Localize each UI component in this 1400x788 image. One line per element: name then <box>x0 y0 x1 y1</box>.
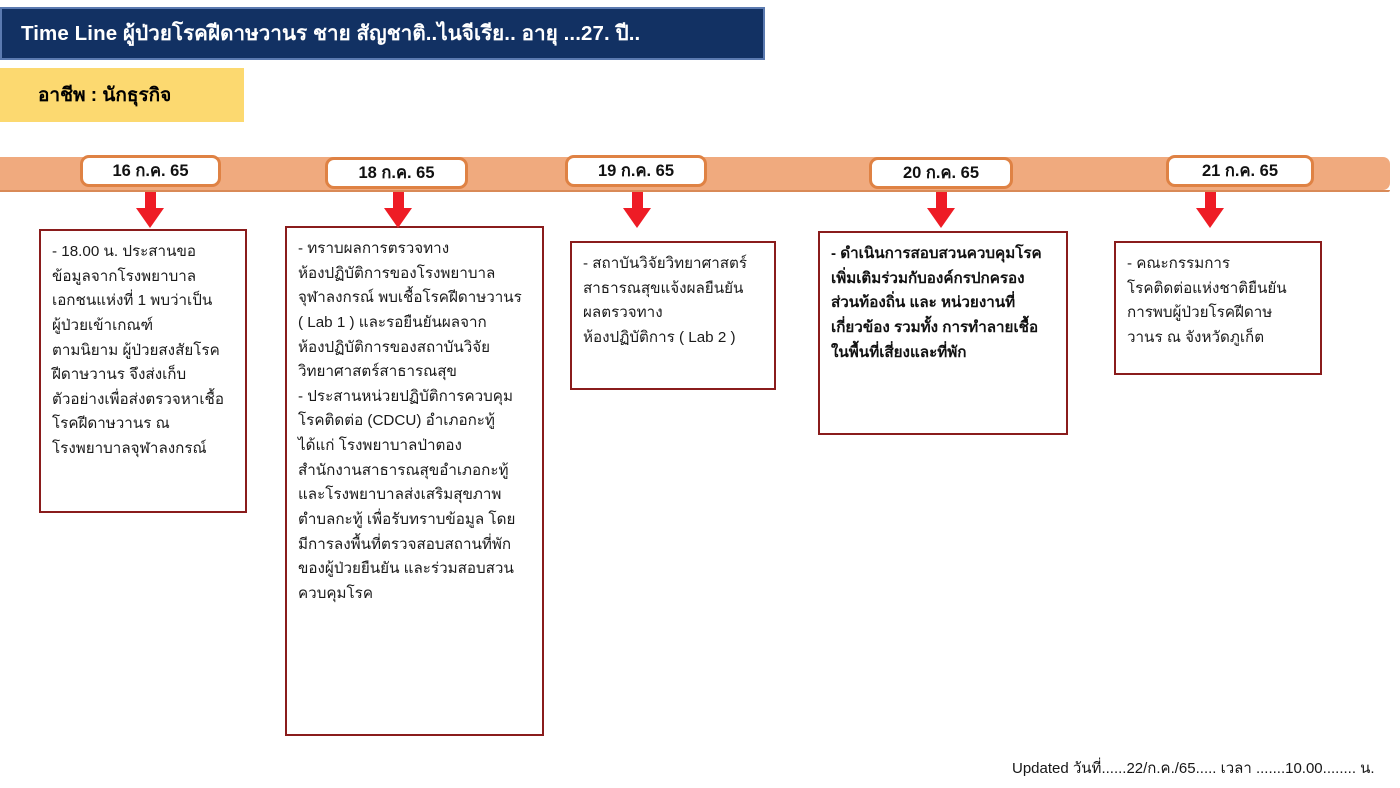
timeline-date-chip-2[interactable]: 18 ก.ค. 65 <box>325 157 468 189</box>
timeline-arrow-down-icon-3 <box>623 192 651 227</box>
timeline-date-chip-1[interactable]: 16 ก.ค. 65 <box>80 155 221 187</box>
timeline-event-box-1: - 18.00 น. ประสานขอ ข้อมูลจากโรงพยาบาล เ… <box>39 229 247 513</box>
page-title: Time Line ผู้ป่วยโรคฝีดาษวานร ชาย สัญชาต… <box>2 17 640 50</box>
timeline-date-chip-5[interactable]: 21 ก.ค. 65 <box>1166 155 1314 187</box>
arrow-head-1 <box>136 208 164 228</box>
timeline-date-label-5: 21 ก.ค. 65 <box>1202 158 1278 184</box>
timeline-event-box-2: - ทราบผลการตรวจทาง ห้องปฏิบัติการของโรงพ… <box>285 226 544 736</box>
occupation-label: อาชีพ : นักธุรกิจ <box>0 80 171 110</box>
arrow-head-5 <box>1196 208 1224 228</box>
timeline-date-label-2: 18 ก.ค. 65 <box>358 160 434 186</box>
occupation-badge: อาชีพ : นักธุรกิจ <box>0 68 244 122</box>
timeline-event-box-3: - สถาบันวิจัยวิทยาศาสตร์ สาธารณสุขแจ้งผล… <box>570 241 776 390</box>
timeline-event-text-1: - 18.00 น. ประสานขอ ข้อมูลจากโรงพยาบาล เ… <box>52 240 236 462</box>
timeline-date-chip-4[interactable]: 20 ก.ค. 65 <box>869 157 1013 189</box>
timeline-event-text-5: - คณะกรรมการ โรคติดต่อแห่งชาติยืนยัน การ… <box>1127 252 1311 351</box>
timeline-event-box-4: - ดำเนินการสอบสวนควบคุมโรค เพิ่มเติมร่วม… <box>818 231 1068 435</box>
timeline-date-label-1: 16 ก.ค. 65 <box>112 158 188 184</box>
timeline-date-label-3: 19 ก.ค. 65 <box>598 158 674 184</box>
arrow-head-3 <box>623 208 651 228</box>
timeline-event-text-4: - ดำเนินการสอบสวนควบคุมโรค เพิ่มเติมร่วม… <box>831 242 1057 365</box>
timeline-event-box-5: - คณะกรรมการ โรคติดต่อแห่งชาติยืนยัน การ… <box>1114 241 1322 375</box>
timeline-date-chip-3[interactable]: 19 ก.ค. 65 <box>565 155 707 187</box>
timeline-arrow-down-icon-2 <box>384 192 412 227</box>
arrow-head-4 <box>927 208 955 228</box>
timeline-event-text-3: - สถาบันวิจัยวิทยาศาสตร์ สาธารณสุขแจ้งผล… <box>583 252 765 351</box>
timeline-arrow-down-icon-1 <box>136 192 164 227</box>
timeline-arrow-down-icon-4 <box>927 192 955 227</box>
updated-timestamp: Updated วันที่......22/ก.ค./65..... เวลา… <box>1012 756 1375 780</box>
timeline-date-label-4: 20 ก.ค. 65 <box>903 160 979 186</box>
page-title-bar: Time Line ผู้ป่วยโรคฝีดาษวานร ชาย สัญชาต… <box>0 7 765 60</box>
timeline-arrow-down-icon-5 <box>1196 192 1224 227</box>
timeline-event-text-2: - ทราบผลการตรวจทาง ห้องปฏิบัติการของโรงพ… <box>298 237 533 606</box>
arrow-head-2 <box>384 208 412 228</box>
